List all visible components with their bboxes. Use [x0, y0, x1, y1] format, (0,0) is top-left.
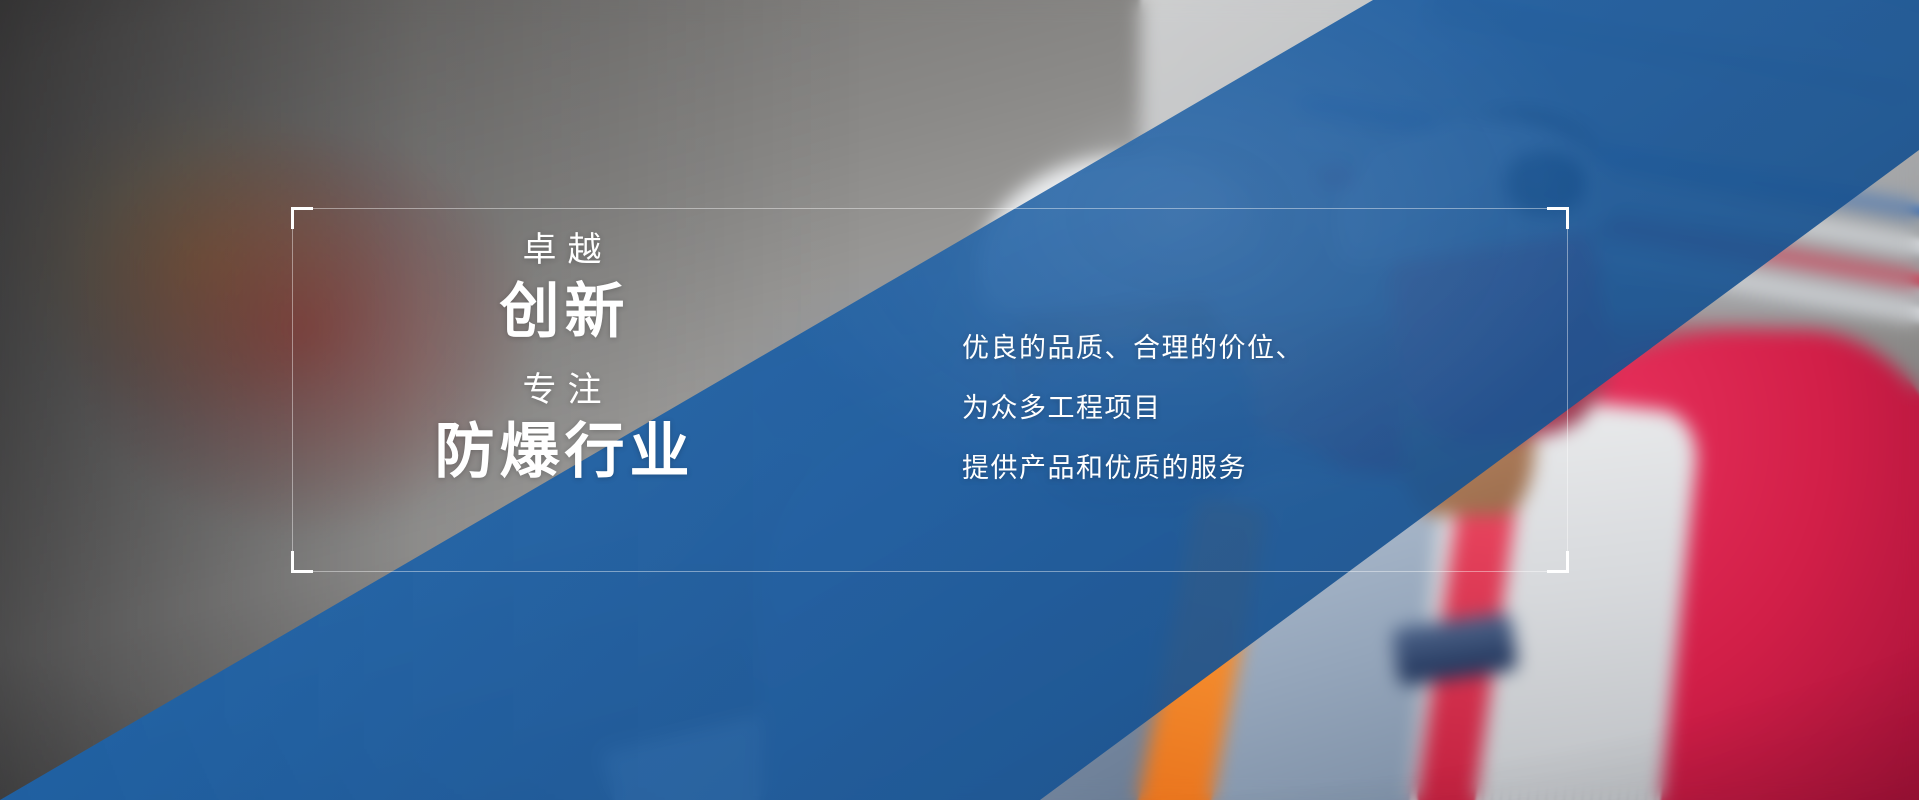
headline-line-4: 防爆行业 — [392, 415, 732, 488]
headline-spacer — [392, 348, 732, 368]
subcopy-line-3: 提供产品和优质的服务 — [962, 438, 1304, 498]
subcopy-block: 优良的品质、合理的价位、 为众多工程项目 提供产品和优质的服务 — [962, 318, 1304, 498]
headline-line-3: 专注 — [392, 368, 732, 413]
subcopy-line-1: 优良的品质、合理的价位、 — [962, 318, 1304, 378]
subcopy-line-2: 为众多工程项目 — [962, 378, 1304, 438]
headline-line-1: 卓越 — [392, 228, 732, 273]
headline-line-2: 创新 — [392, 275, 732, 348]
headline-block: 卓越 创新 专注 防爆行业 — [392, 228, 732, 488]
hero-banner: 卓越 创新 专注 防爆行业 优良的品质、合理的价位、 为众多工程项目 提供产品和… — [0, 0, 1919, 800]
